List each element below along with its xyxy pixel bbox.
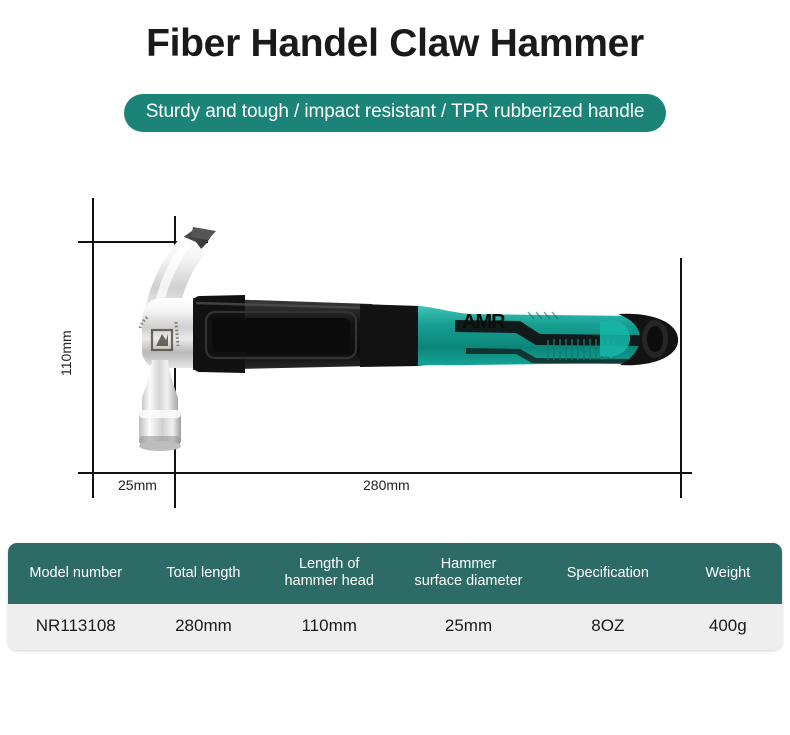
dimension-label-total-length: 280mm	[363, 477, 410, 493]
brand-logo-icon: AMR	[462, 311, 506, 333]
column-header-specification: Specification	[542, 543, 674, 604]
page-title: Fiber Handel Claw Hammer	[0, 22, 790, 67]
svg-text:AMR: AMR	[462, 311, 506, 333]
column-header-model-number: Model number	[8, 543, 143, 604]
dimension-label-head-height: 110mm	[58, 330, 74, 376]
claw-hammer-illustration: AMR	[0, 170, 790, 520]
column-header-head-length: Length of hammer head	[263, 543, 395, 604]
feature-banner: Sturdy and tough / impact resistant / TP…	[124, 94, 667, 132]
specification-table: Model number Total length Length of hamm…	[8, 543, 782, 650]
feature-banner-container: Sturdy and tough / impact resistant / TP…	[0, 94, 790, 132]
table-row: NR113108 280mm 110mm 25mm 8OZ 400g	[8, 604, 782, 650]
cell-model-number: NR113108	[8, 604, 143, 650]
column-header-weight: Weight	[674, 543, 782, 604]
cell-weight: 400g	[674, 604, 782, 650]
product-spec-page: Fiber Handel Claw Hammer Sturdy and toug…	[0, 0, 790, 735]
cell-total-length: 280mm	[143, 604, 263, 650]
cell-specification: 8OZ	[542, 604, 674, 650]
cell-surface-diameter: 25mm	[395, 604, 542, 650]
dimension-diagram: AMR 110mm 25mm 280mm	[0, 170, 790, 520]
table-header-row: Model number Total length Length of hamm…	[8, 543, 782, 604]
column-header-total-length: Total length	[143, 543, 263, 604]
cell-head-length: 110mm	[263, 604, 395, 650]
dimension-label-face-diameter: 25mm	[118, 477, 157, 493]
column-header-surface-diameter: Hammer surface diameter	[395, 543, 542, 604]
